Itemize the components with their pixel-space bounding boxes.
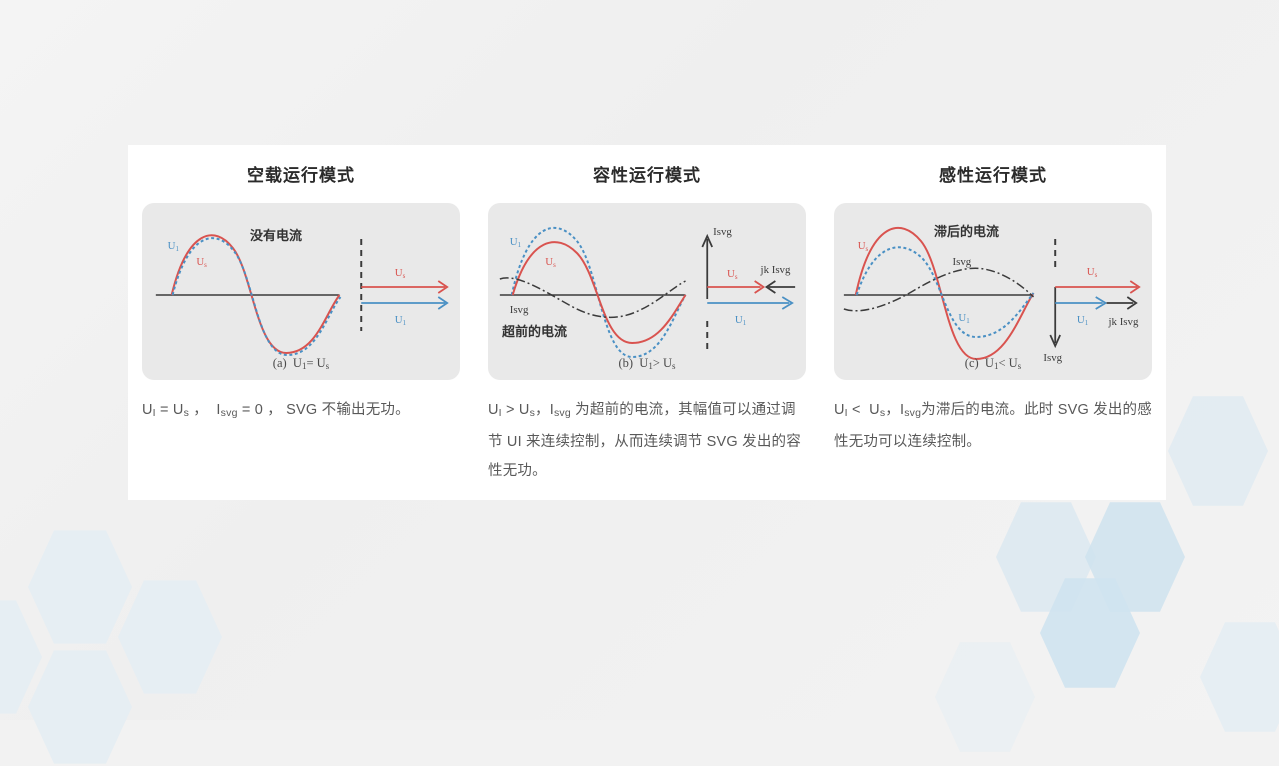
figure-caption-b-op: > [653, 356, 660, 370]
phasor-label-jkisvg: jk Isvg [1108, 316, 1139, 328]
panel-capacitive: 容性运行模式 U1 Us Isvg Is [474, 145, 820, 500]
panel-caption: UI = Us ， Isvg = 0 ， SVG 不输出无功。 [142, 396, 460, 428]
figure-caption-c-pre: (c) [965, 356, 979, 370]
figure-note-lagging-current: 滞后的电流 [934, 221, 999, 240]
phasor-label-jkisvg: jk Isvg [760, 264, 791, 276]
phasor-axis-label-isvg: Isvg [713, 226, 732, 238]
figure-caption-b-left: U [639, 356, 648, 370]
figure-caption-a-pre: (a) [273, 356, 287, 370]
panel-caption: UI < Us，Isvg为滞后的电流。此时 SVG 发出的感性无功可以连续控制。 [834, 396, 1152, 457]
panel-no-load: 空载运行模式 U1 Us [128, 145, 474, 500]
curve-u1-blue [857, 247, 1034, 337]
phasor-label-u1: U1 [1077, 314, 1089, 327]
figure-caption-c: (c) U1< Us [834, 356, 1152, 371]
panel-columns: 空载运行模式 U1 Us [128, 145, 1166, 500]
panel-title: 容性运行模式 [488, 161, 806, 186]
figure-caption-b: (b) U1> Us [488, 356, 806, 371]
wave-label-isvg: Isvg [510, 304, 529, 316]
wave-label-us: Us [858, 240, 869, 253]
phasor-label-us: Us [395, 267, 406, 280]
figure-caption-a-right-sub: s [326, 361, 330, 371]
figure-caption-b-right: U [663, 356, 672, 370]
phasor-label-u1: U1 [395, 314, 407, 327]
waveform-phasor-svg: U1 Us Isvg Isvg Us jk Isvg [488, 203, 806, 380]
figure-no-load: U1 Us Us U1 没有电流 (a) U1= [142, 203, 460, 380]
wave-label-isvg: Isvg [953, 256, 972, 268]
figure-caption-c-op: < [998, 356, 1005, 370]
wave-label-us: Us [196, 256, 207, 269]
panel-inductive: 感性运行模式 Us Isvg U1 Is [820, 145, 1166, 500]
wave-label-us: Us [545, 256, 556, 269]
figure-caption-b-pre: (b) [618, 356, 633, 370]
figure-caption-a-right: U [317, 356, 326, 370]
figure-inductive: Us Isvg U1 Isvg Us U1 jk Is [834, 203, 1152, 380]
phasor-label-us: Us [727, 268, 738, 281]
figure-caption-b-right-sub: s [672, 361, 676, 371]
panel-title: 感性运行模式 [834, 161, 1152, 186]
figure-note-leading-current: 超前的电流 [502, 321, 567, 340]
figure-caption-a: (a) U1= Us [142, 356, 460, 371]
phasor-label-us: Us [1087, 266, 1098, 279]
panel-caption: UI > Us，Isvg 为超前的电流，其幅值可以通过调节 UI 来连续控制，从… [488, 396, 806, 486]
caption-text-a: UI = Us ， Isvg = 0 ， SVG 不输出无功。 [142, 402, 410, 418]
curve-us-red [172, 235, 340, 353]
content-card: 空载运行模式 U1 Us [128, 145, 1166, 500]
figure-capacitive: U1 Us Isvg Isvg Us jk Isvg [488, 203, 806, 380]
figure-caption-a-op: = [306, 356, 313, 370]
wave-label-u1: U1 [168, 240, 180, 253]
caption-text-b: UI > Us，Isvg 为超前的电流，其幅值可以通过调节 UI 来连续控制，从… [488, 402, 801, 479]
wave-label-u1: U1 [958, 312, 970, 325]
figure-caption-c-right: U [1009, 356, 1018, 370]
caption-text-c: UI < Us，Isvg为滞后的电流。此时 SVG 发出的感性无功可以连续控制。 [834, 402, 1152, 450]
figure-caption-c-right-sub: s [1018, 361, 1022, 371]
figure-caption-a-left: U [293, 356, 302, 370]
figure-note-no-current: 没有电流 [250, 225, 302, 244]
curve-us-red [856, 228, 1034, 359]
phasor-label-u1: U1 [735, 314, 747, 327]
wave-label-u1: U1 [510, 236, 522, 249]
figure-caption-c-left: U [985, 356, 994, 370]
panel-title: 空载运行模式 [142, 161, 460, 186]
